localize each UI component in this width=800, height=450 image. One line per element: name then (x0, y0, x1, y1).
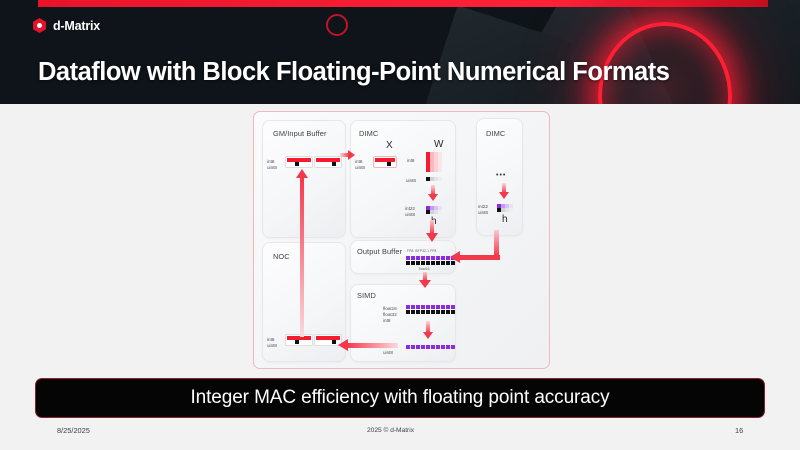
arrow-dimc1-to-output-buffer (426, 220, 438, 244)
dimc1-x-label-int8: int8 (355, 159, 362, 165)
panel-dimc1-label: DIMC (359, 129, 378, 138)
panel-dimc-1: DIMC X W int8 uint8 int8 (350, 120, 456, 238)
dimc1-w-matrix (426, 152, 442, 172)
gm-box2-row-uint8 (316, 162, 340, 166)
takeaway-banner: Integer MAC efficiency with floating poi… (35, 378, 765, 418)
noc-box2-row-uint8 (316, 340, 340, 344)
arrow-output-buffer-to-simd (419, 272, 431, 290)
dimc2-ellipsis: ••• (496, 172, 506, 179)
output-buffer-below-label: float16 (419, 267, 430, 271)
footer-copyright: 2025 © d-Matrix (367, 427, 414, 434)
simd-in-row-dark (406, 310, 455, 314)
panel-gm-label: GM/Input Buffer (273, 129, 327, 138)
arrow-dimc2-to-h (499, 183, 509, 201)
gm-row-label-int8: int8 (267, 159, 274, 165)
slide: d-Matrix Dataflow with Block Floating-Po… (0, 0, 800, 450)
brand-logo: d-Matrix (32, 18, 100, 33)
panel-noc-label: NOC (273, 252, 290, 261)
arrow-simd-internal (423, 321, 433, 341)
footer-page-number: 16 (735, 426, 743, 435)
noc-row-label-int8: int8 (267, 337, 274, 343)
panel-output-buffer: Output Buffer FP8: BFP32-1 FP8 float16 (350, 240, 456, 274)
arrow-w-to-h (428, 185, 438, 203)
dimc1-w-exponent-row (426, 177, 442, 181)
dimc1-h-row-uint8 (426, 210, 442, 214)
output-buffer-row-purple (406, 256, 455, 260)
simd-in-label-float16: float16 (383, 306, 397, 312)
slide-header: d-Matrix Dataflow with Block Floating-Po… (0, 0, 800, 104)
dimc1-x-label-uint8: uint8 (355, 165, 365, 171)
panel-dimc2-label: DIMC (486, 129, 505, 138)
gm-box1-row-uint8 (287, 162, 311, 166)
dataflow-diagram: GM/Input Buffer int8 uint8 (253, 111, 550, 369)
simd-in-label-int8: int8 (383, 318, 390, 324)
dimc2-h-label-int22: int22 (478, 204, 488, 210)
dimc1-h-label-uint8: uint8 (405, 212, 415, 218)
panel-dimc-2: DIMC ••• int22 uint8 h (476, 118, 523, 236)
gm-buffer-boxes (285, 156, 342, 168)
gm-buffer-box-1 (285, 156, 313, 168)
dimc1-x-matrix (373, 156, 397, 168)
arrow-noc-to-gm (296, 169, 308, 337)
noc-box1-row-uint8 (287, 340, 311, 344)
dimc1-x-row-uint8 (375, 162, 395, 166)
logo-inner-dot (37, 23, 42, 28)
gm-buffer-box-2 (314, 156, 342, 168)
small-circle-decoration (326, 14, 348, 36)
simd-in-label-float32: float32 (383, 312, 397, 318)
panel-output-buffer-label: Output Buffer (357, 247, 402, 256)
dimc2-h-row-uint8 (497, 208, 513, 212)
header-accent-bar (38, 0, 768, 7)
output-buffer-row-dark (406, 261, 455, 265)
simd-in-row-purple (406, 305, 455, 309)
panel-simd-label: SIMD (357, 291, 376, 300)
dimc1-h-label-int22: int22 (405, 206, 415, 212)
hexagon-dot-icon (32, 18, 47, 33)
dimc1-w-label-uint8: uint8 (406, 178, 416, 184)
noc-buffer-boxes (285, 334, 342, 346)
arrow-simd-to-noc (338, 339, 398, 351)
page-title: Dataflow with Block Floating-Point Numer… (38, 58, 669, 87)
dimc1-w-label-int8: int8 (407, 158, 414, 164)
noc-row-label-uint8: uint8 (267, 343, 277, 349)
output-buffer-format-note: FP8: BFP32-1 FP8 (407, 249, 436, 253)
arrow-dimc2-to-output-buffer (450, 251, 500, 263)
gm-row-label-uint8: uint8 (267, 165, 277, 171)
dimc1-symbol-w: W (434, 139, 443, 150)
arrow-gm-to-dimc (340, 150, 356, 160)
simd-out-row-purple (406, 345, 455, 349)
logo-wordmark: d-Matrix (53, 19, 100, 33)
dimc1-symbol-x: X (386, 140, 393, 151)
dimc2-symbol-h: h (502, 214, 508, 225)
footer-date: 8/25/2025 (57, 426, 90, 435)
dimc2-h-label-uint8: uint8 (478, 210, 488, 216)
takeaway-banner-text: Integer MAC efficiency with floating poi… (190, 387, 609, 409)
